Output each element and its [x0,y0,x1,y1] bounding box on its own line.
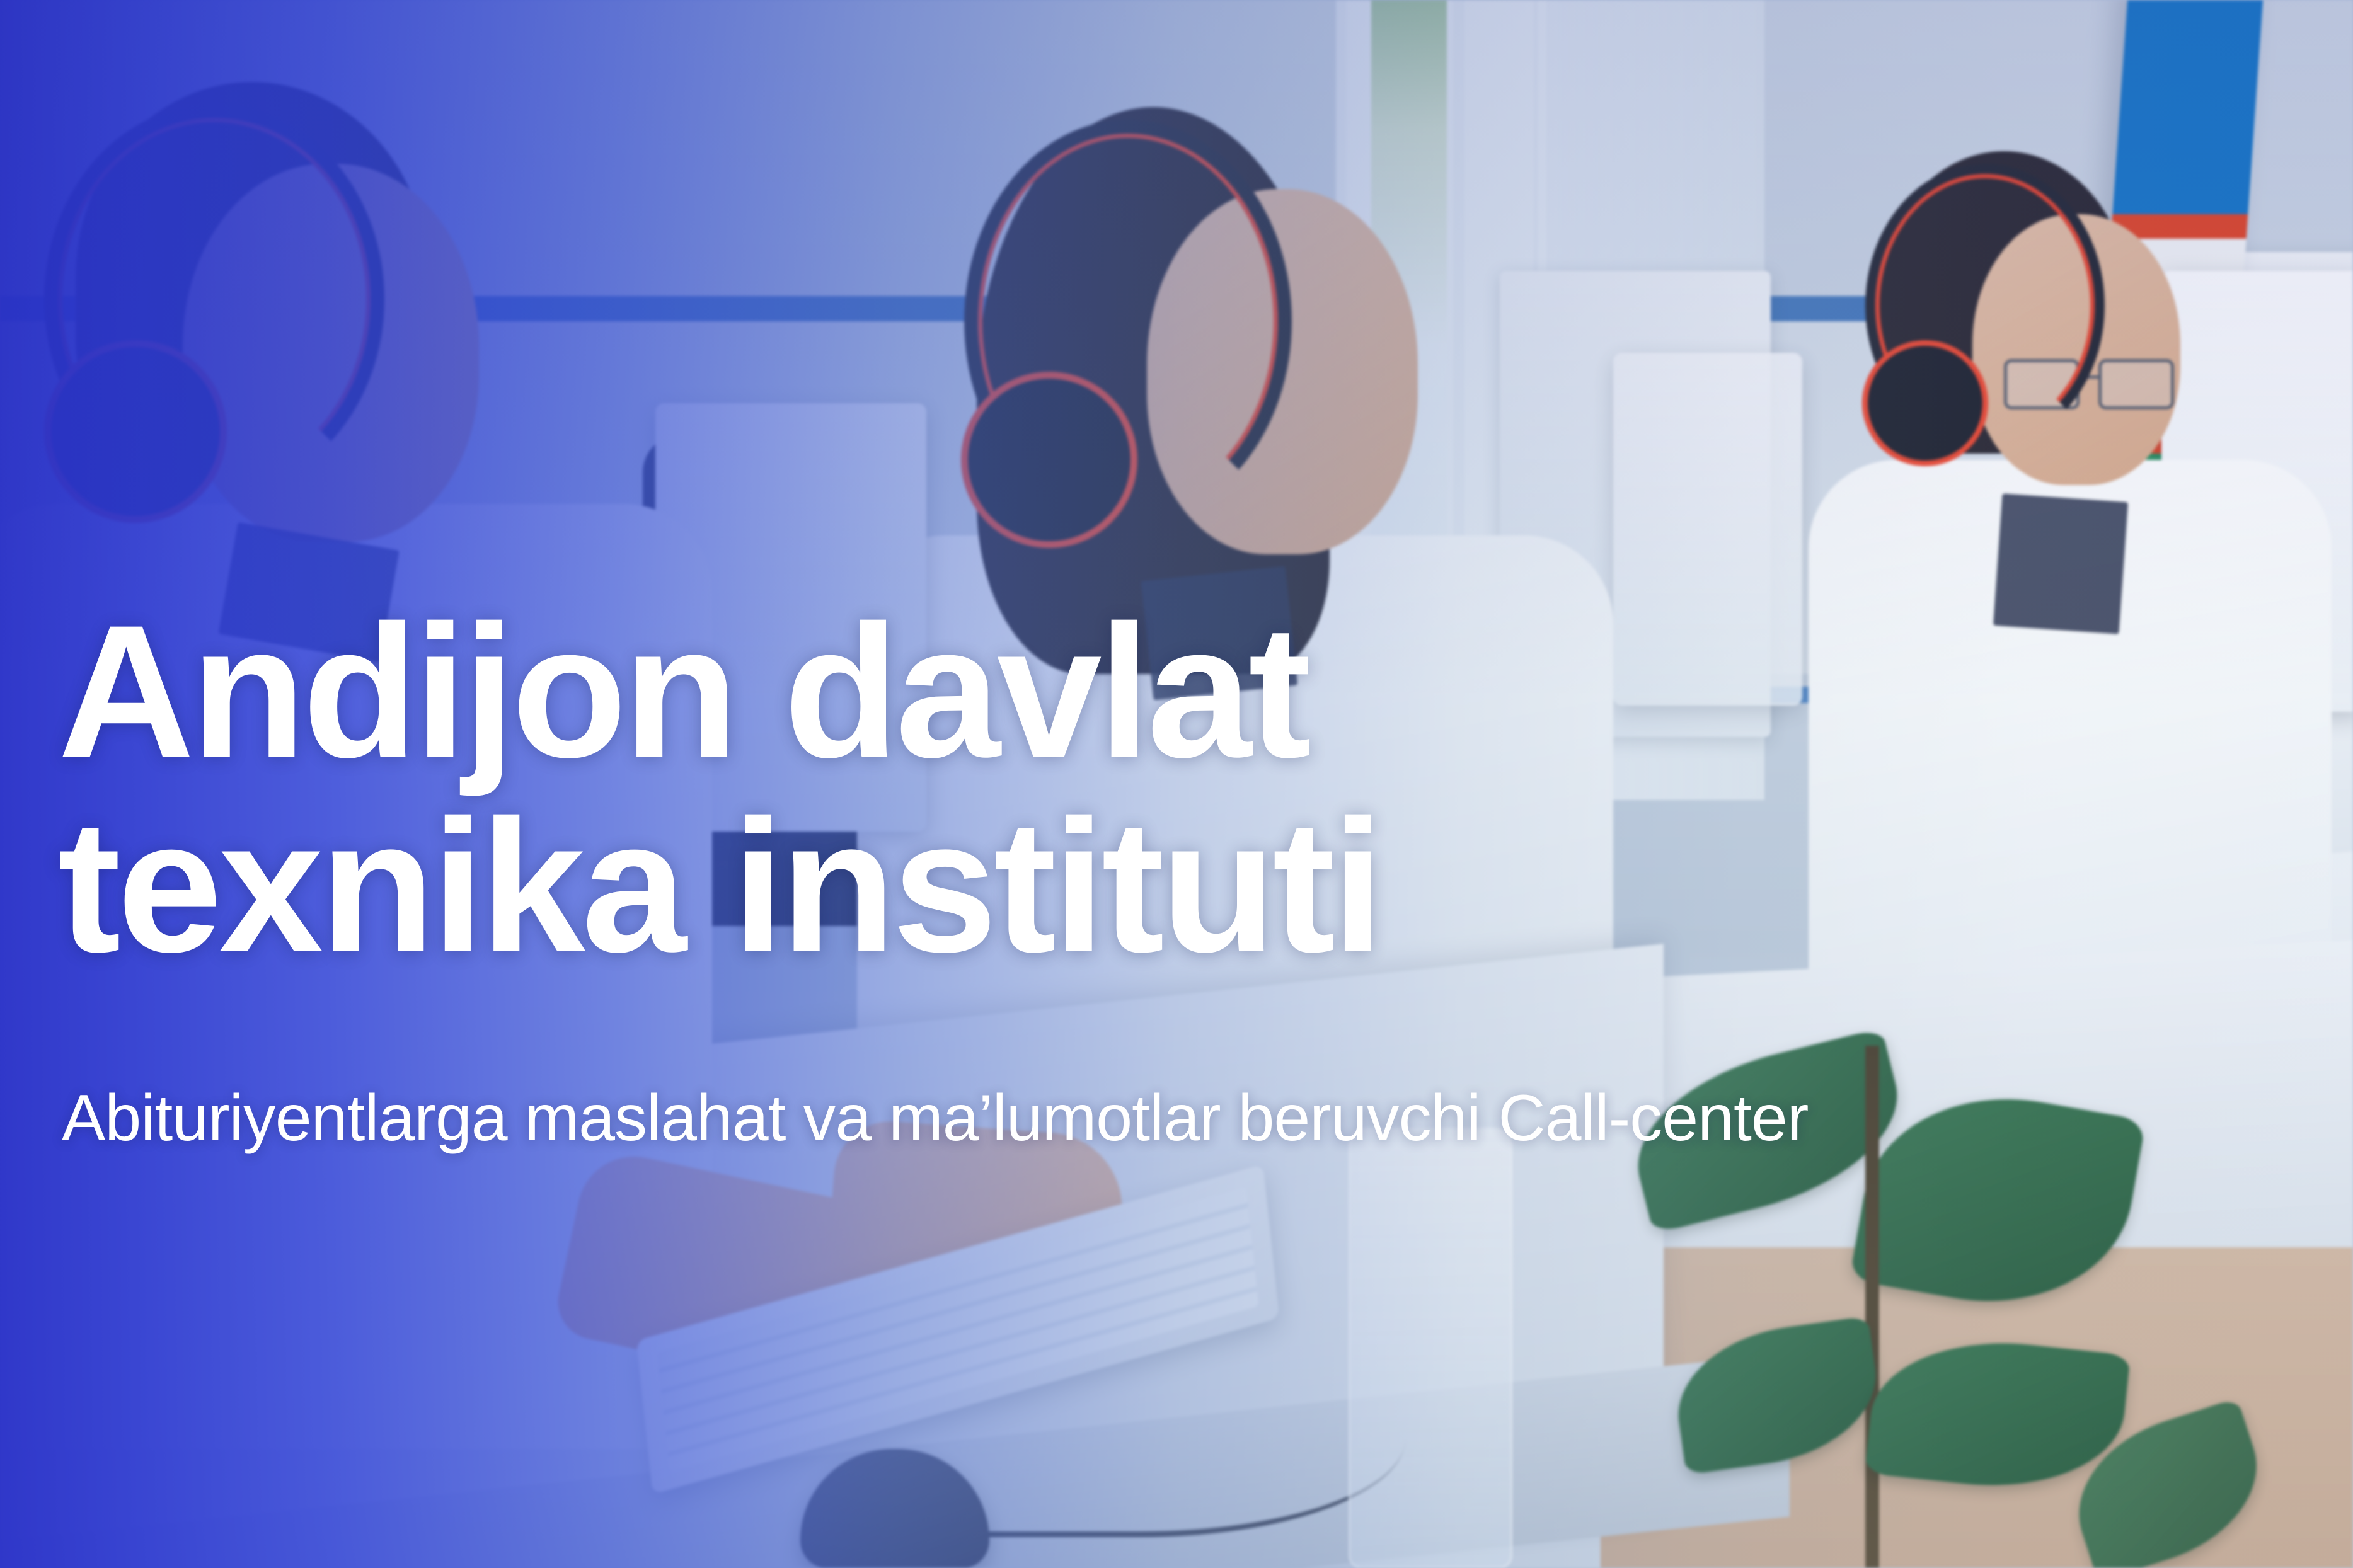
hero-banner: Andijon davlat texnika instituti Abituri… [0,0,2353,1568]
hero-subtitle: Abituriyentlarga maslahat va ma’lumotlar… [62,1081,1808,1156]
page-title: Andijon davlat texnika instituti [58,594,2137,983]
hero-content: Andijon davlat texnika instituti Abituri… [58,0,2301,1568]
